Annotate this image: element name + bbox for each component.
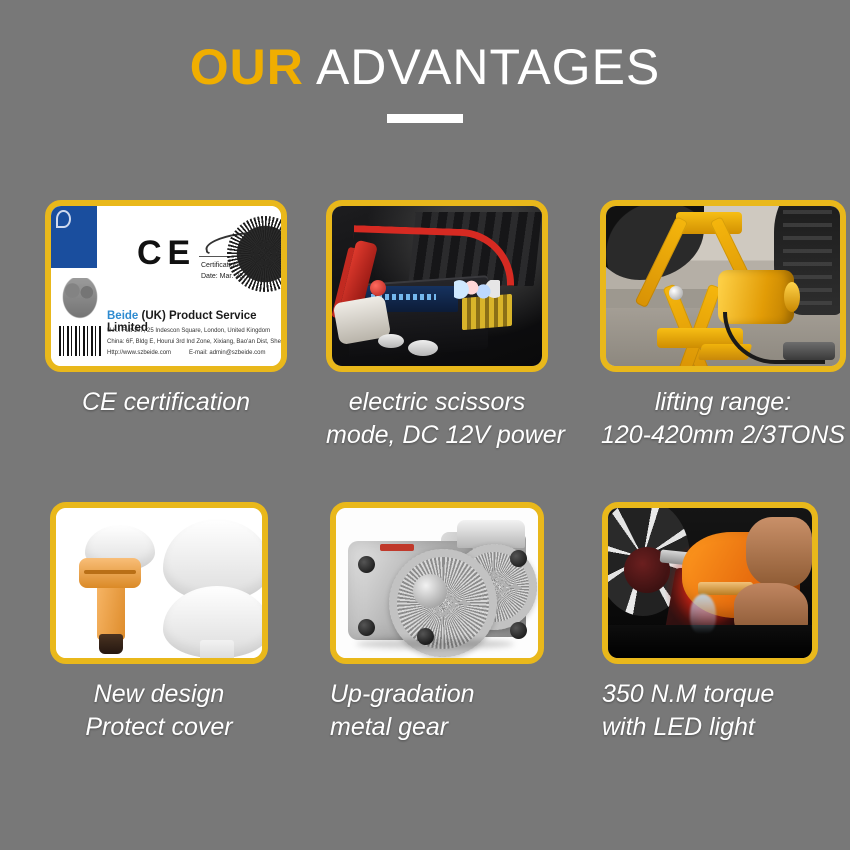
cover-stem-shape bbox=[200, 640, 234, 658]
barcode-icon bbox=[59, 326, 101, 356]
caption-line: 350 N.M torque bbox=[602, 678, 818, 711]
battery-cell-cap-2 bbox=[408, 340, 438, 356]
gearbox-bolt bbox=[510, 550, 527, 567]
card-caption: lifting range: 120-420mm 2/3TONS bbox=[600, 386, 846, 453]
card-caption: Up-gradation metal gear bbox=[330, 678, 544, 745]
light-reflection-shape bbox=[690, 594, 716, 634]
advantage-card-ce-certification[interactable]: CE Certification Manager Date: Mar. 23, … bbox=[45, 200, 287, 419]
caption-line: 120-420mm 2/3TONS bbox=[600, 419, 846, 452]
caption-line: Protect cover bbox=[50, 711, 268, 744]
card-caption: electric scissors mode, DC 12V power bbox=[326, 386, 548, 453]
power-plug-shape bbox=[783, 342, 835, 360]
caption-line: lifting range: bbox=[600, 386, 846, 419]
caption-line: New design bbox=[50, 678, 268, 711]
card-caption: CE certification bbox=[45, 386, 287, 419]
certificate-contact-line: Http://www.szbeide.comE-mail: admin@szbe… bbox=[107, 350, 265, 356]
page-title-highlight: OUR bbox=[190, 39, 304, 95]
certificate-website: Http://www.szbeide.com bbox=[107, 350, 171, 356]
card-frame bbox=[326, 200, 548, 372]
caption-line: CE certification bbox=[45, 386, 287, 419]
fuse-box-shape bbox=[462, 293, 512, 329]
royal-crest-icon bbox=[61, 278, 99, 320]
caption-line: metal gear bbox=[330, 711, 544, 744]
battery-terminal-marker bbox=[370, 280, 386, 296]
ce-flag-block bbox=[51, 206, 97, 268]
advantage-card-electric-scissors[interactable]: electric scissors mode, DC 12V power bbox=[326, 200, 548, 453]
advantages-row-top: CE Certification Manager Date: Mar. 23, … bbox=[0, 168, 850, 488]
advantage-card-lifting-range[interactable]: lifting range: 120-420mm 2/3TONS bbox=[600, 200, 846, 453]
title-underline-rule bbox=[387, 114, 463, 123]
hand-shape bbox=[746, 517, 812, 587]
car-battery-jumper-image bbox=[332, 206, 542, 366]
certificate-email: E-mail: admin@szbeide.com bbox=[189, 350, 265, 356]
page-title-rest: ADVANTAGES bbox=[304, 39, 660, 95]
battery-cell-cap-1 bbox=[378, 334, 404, 348]
fuse-dots-shape bbox=[454, 280, 500, 299]
ce-mark-label: CE bbox=[137, 234, 196, 273]
certificate-address-line-2: China: 6F, Bldg E, Hourui 3rd Ind Zone, … bbox=[107, 339, 281, 345]
orange-adapter-head bbox=[79, 558, 141, 588]
metal-gearbox-image bbox=[336, 508, 538, 658]
scissor-jack-under-car-image bbox=[606, 206, 840, 366]
ce-certificate-image: CE Certification Manager Date: Mar. 23, … bbox=[51, 206, 281, 366]
gearbox-bolt bbox=[510, 622, 527, 639]
advantage-card-protect-cover[interactable]: New design Protect cover bbox=[50, 502, 268, 745]
card-frame bbox=[602, 502, 818, 664]
advantages-row-bottom: New design Protect cover bbox=[0, 488, 850, 828]
gearbox-shadow bbox=[356, 639, 514, 649]
page-title: OUR ADVANTAGES bbox=[190, 42, 661, 92]
card-caption: New design Protect cover bbox=[50, 678, 268, 745]
advantage-card-torque-led[interactable]: 350 N.M torque with LED light bbox=[602, 502, 818, 745]
card-frame bbox=[50, 502, 268, 664]
advantage-card-metal-gear[interactable]: Up-gradation metal gear bbox=[330, 502, 544, 745]
card-frame bbox=[330, 502, 544, 664]
impact-wrench-led-image bbox=[608, 508, 812, 658]
card-frame bbox=[600, 200, 846, 372]
gear-hub bbox=[413, 574, 447, 608]
protect-cover-parts-image bbox=[56, 508, 262, 658]
caption-line: with LED light bbox=[602, 711, 818, 744]
certificate-address-line-1: U.K.: Flat 107, 25 Indescon Square, Lond… bbox=[107, 328, 270, 334]
certificate-seal-icon bbox=[227, 216, 281, 292]
card-caption: 350 N.M torque with LED light bbox=[602, 678, 818, 745]
caption-line: electric scissors bbox=[326, 386, 548, 419]
jack-pivot-bolt bbox=[669, 286, 683, 300]
advantages-grid: CE Certification Manager Date: Mar. 23, … bbox=[0, 168, 850, 828]
gearbox-red-stripe bbox=[380, 544, 414, 551]
page-header: OUR ADVANTAGES bbox=[0, 0, 850, 170]
company-brand-label: Beide bbox=[107, 310, 138, 322]
card-frame: CE Certification Manager Date: Mar. 23, … bbox=[45, 200, 287, 372]
adapter-tip-shape bbox=[99, 634, 123, 654]
caption-line: Up-gradation bbox=[330, 678, 544, 711]
caption-line: mode, DC 12V power bbox=[326, 419, 548, 452]
